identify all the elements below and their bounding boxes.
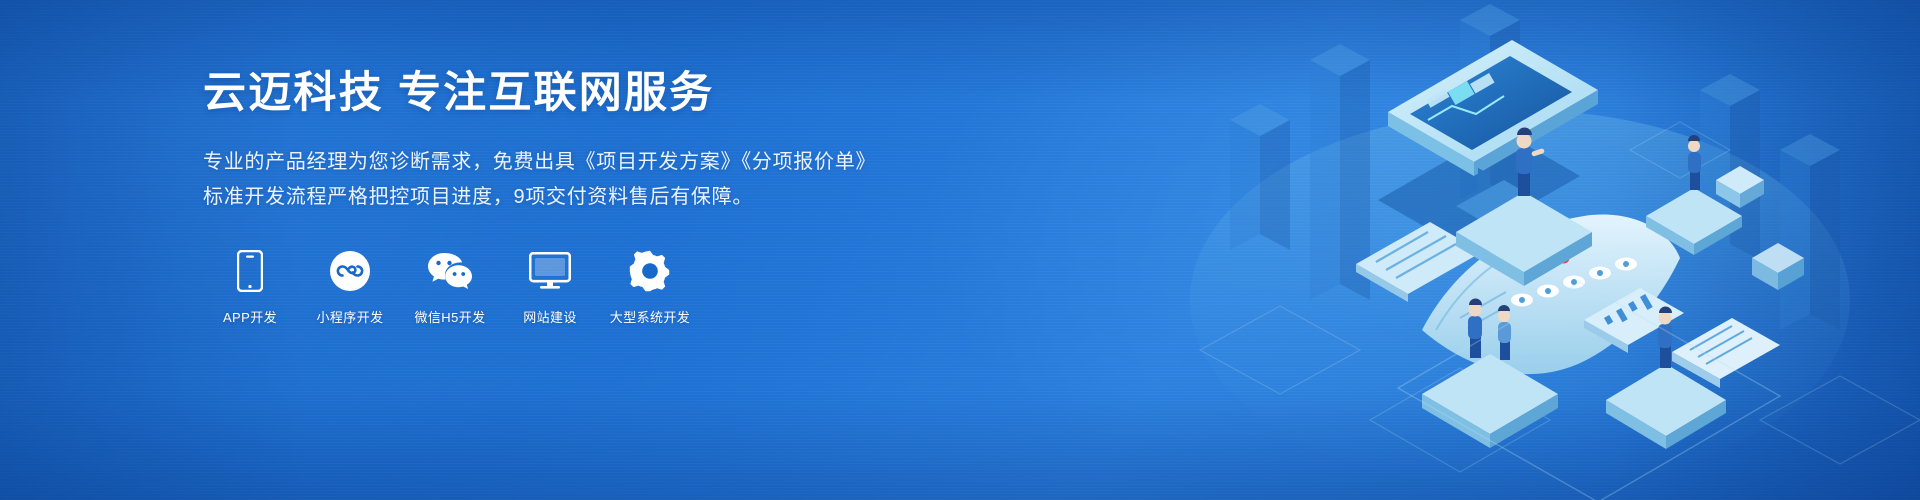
service-item-app[interactable]: APP开发 — [219, 248, 281, 326]
gear-icon — [629, 248, 671, 294]
hero-banner: 云迈科技 专注互联网服务 专业的产品经理为您诊断需求，免费出具《项目开发方案》《… — [0, 0, 1920, 500]
hero-illustration — [1160, 0, 1920, 500]
subtitle-line-1: 专业的产品经理为您诊断需求，免费出具《项目开发方案》《分项报价单》 — [203, 145, 903, 181]
service-item-website[interactable]: 网站建设 — [519, 248, 581, 326]
service-label: 小程序开发 — [317, 307, 384, 326]
subtitle-line-2: 标准开发流程严格把控项目进度，9项交付资料售后有保障。 — [203, 180, 903, 216]
mini-program-icon — [329, 248, 371, 294]
service-label: APP开发 — [223, 307, 277, 326]
service-label: 微信H5开发 — [414, 307, 485, 326]
service-label: 大型系统开发 — [610, 307, 690, 326]
hero-content: 云迈科技 专注互联网服务 专业的产品经理为您诊断需求，免费出具《项目开发方案》《… — [203, 68, 903, 326]
service-item-miniprogram[interactable]: 小程序开发 — [319, 248, 381, 326]
service-item-system[interactable]: 大型系统开发 — [619, 248, 681, 326]
desktop-monitor-icon — [529, 248, 571, 294]
service-list: APP开发 小程序开发 — [219, 248, 903, 326]
service-label: 网站建设 — [523, 307, 577, 326]
page-title: 云迈科技 专注互联网服务 — [203, 68, 903, 119]
mobile-phone-icon — [237, 248, 263, 294]
hero-subtitle: 专业的产品经理为您诊断需求，免费出具《项目开发方案》《分项报价单》 标准开发流程… — [203, 145, 903, 216]
wechat-icon — [427, 248, 473, 294]
service-item-wechat[interactable]: 微信H5开发 — [419, 248, 481, 326]
